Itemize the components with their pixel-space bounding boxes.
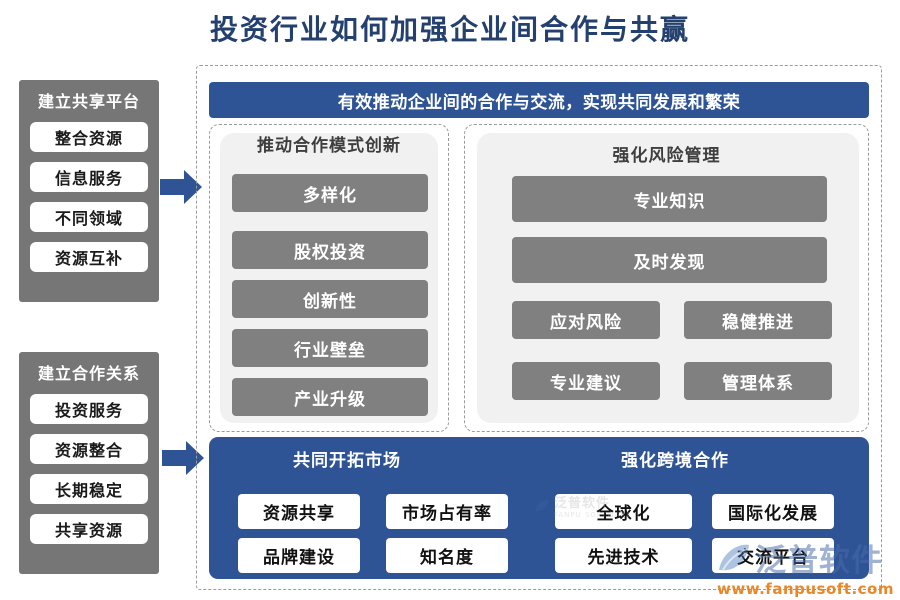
side-panel-shared-platform: 建立共享平台 整合资源 信息服务 不同领域 资源互补 xyxy=(19,80,159,302)
risk-item[interactable]: 及时发现 xyxy=(512,237,827,283)
side-chip[interactable]: 共享资源 xyxy=(30,514,148,544)
left-column-title: 推动合作模式创新 xyxy=(209,131,449,156)
diagram-canvas: 投资行业如何加强企业间合作与共赢 建立共享平台 整合资源 信息服务 不同领域 资… xyxy=(0,0,900,600)
side-chip[interactable]: 不同领域 xyxy=(30,202,148,232)
side-chip[interactable]: 投资服务 xyxy=(30,394,148,424)
market-item[interactable]: 市场占有率 xyxy=(386,494,508,529)
market-item[interactable]: 知名度 xyxy=(386,538,508,573)
crossborder-item[interactable]: 先进技术 xyxy=(555,538,692,573)
side-chip[interactable]: 资源互补 xyxy=(30,242,148,272)
bottom-group-title-crossborder: 强化跨境合作 xyxy=(560,446,790,471)
side-panel-title: 建立共享平台 xyxy=(38,88,140,112)
side-chip[interactable]: 信息服务 xyxy=(30,162,148,192)
side-chip[interactable]: 资源整合 xyxy=(30,434,148,464)
market-item[interactable]: 资源共享 xyxy=(238,494,360,529)
innovation-item[interactable]: 多样化 xyxy=(232,174,428,212)
risk-item[interactable]: 专业知识 xyxy=(512,176,827,222)
risk-item[interactable]: 专业建议 xyxy=(512,362,660,400)
innovation-item[interactable]: 股权投资 xyxy=(232,231,428,269)
bottom-group-title-market: 共同开拓市场 xyxy=(232,446,462,471)
side-panel-cooperation-relationship: 建立合作关系 投资服务 资源整合 长期稳定 共享资源 xyxy=(19,352,159,574)
side-chip[interactable]: 长期稳定 xyxy=(30,474,148,504)
crossborder-item[interactable]: 交流平台 xyxy=(712,538,834,573)
main-banner: 有效推动企业间的合作与交流，实现共同发展和繁荣 xyxy=(209,82,869,118)
right-column-title: 强化风险管理 xyxy=(464,141,869,166)
page-title: 投资行业如何加强企业间合作与共赢 xyxy=(0,8,900,48)
side-chip[interactable]: 整合资源 xyxy=(30,122,148,152)
risk-item[interactable]: 稳健推进 xyxy=(684,301,832,339)
side-panel-title: 建立合作关系 xyxy=(38,360,140,384)
market-item[interactable]: 品牌建设 xyxy=(238,538,360,573)
innovation-item[interactable]: 产业升级 xyxy=(232,378,428,416)
crossborder-item[interactable]: 全球化 xyxy=(555,494,692,529)
innovation-item[interactable]: 创新性 xyxy=(232,280,428,318)
risk-item[interactable]: 管理体系 xyxy=(684,362,832,400)
innovation-item[interactable]: 行业壁垒 xyxy=(232,329,428,367)
crossborder-item[interactable]: 国际化发展 xyxy=(712,494,834,529)
risk-item[interactable]: 应对风险 xyxy=(512,301,660,339)
